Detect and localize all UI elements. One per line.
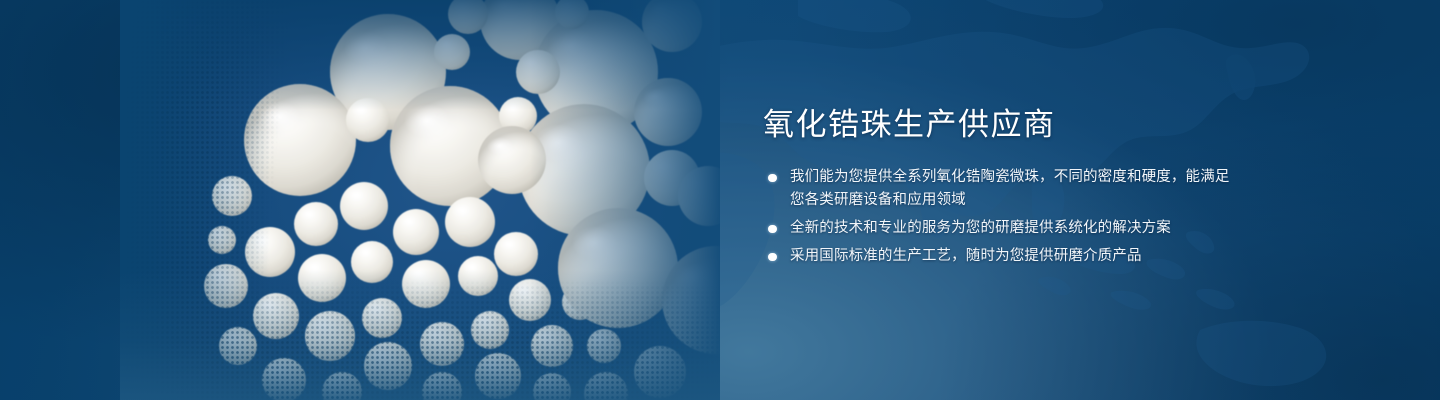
bullet-text-1: 我们能为您提供全系列氧化锆陶瓷微珠，不同的密度和硬度，能满足您各类研磨设备和应用… xyxy=(790,166,1233,212)
bullet-item-1: 我们能为您提供全系列氧化锆陶瓷微珠，不同的密度和硬度，能满足您各类研磨设备和应用… xyxy=(763,166,1233,212)
banner-copy: 氧化锆珠生产供应商 我们能为您提供全系列氧化锆陶瓷微珠，不同的密度和硬度，能满足… xyxy=(763,106,1233,268)
hero-banner: 氧化锆珠生产供应商 我们能为您提供全系列氧化锆陶瓷微珠，不同的密度和硬度，能满足… xyxy=(0,0,1440,400)
banner-bullet-list: 我们能为您提供全系列氧化锆陶瓷微珠，不同的密度和硬度，能满足您各类研磨设备和应用… xyxy=(763,166,1233,268)
bullet-text-3: 采用国际标准的生产工艺，随时为您提供研磨介质产品 xyxy=(790,245,1233,268)
bullet-text-2: 全新的技术和专业的服务为您的研磨提供系统化的解决方案 xyxy=(790,217,1233,240)
photo-fade-bottom xyxy=(120,270,720,400)
bullet-dot-icon xyxy=(768,225,777,234)
bullet-item-2: 全新的技术和专业的服务为您的研磨提供系统化的解决方案 xyxy=(763,217,1233,240)
bullet-dot-icon xyxy=(768,253,777,262)
product-photo-zirconia-beads xyxy=(120,0,720,400)
bullet-item-3: 采用国际标准的生产工艺，随时为您提供研磨介质产品 xyxy=(763,245,1233,268)
banner-headline: 氧化锆珠生产供应商 xyxy=(763,106,1233,144)
bullet-dot-icon xyxy=(768,174,777,183)
